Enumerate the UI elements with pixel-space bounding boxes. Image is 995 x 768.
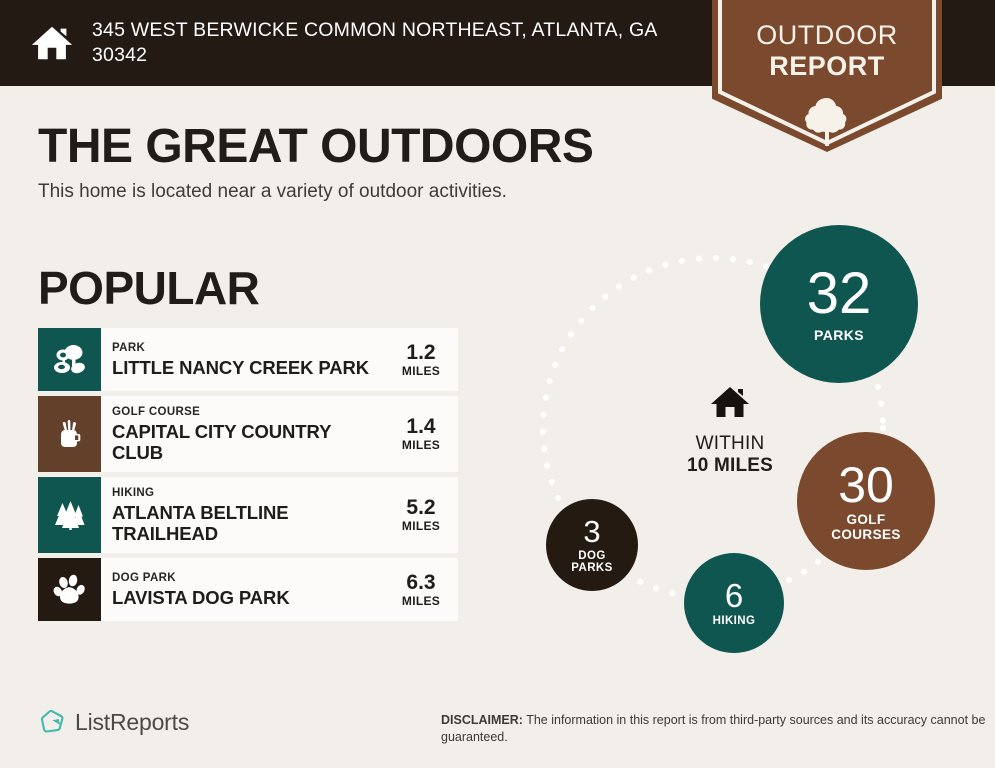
- page-subtitle: This home is located near a variety of o…: [38, 181, 507, 203]
- bubble-golf-value: 30: [838, 460, 894, 510]
- header-address-block: 345 WEST BERWICKE COMMON NORTHEAST, ATLA…: [28, 0, 718, 86]
- list-item-text: DOG PARK LAVISTA DOG PARK: [101, 558, 390, 621]
- bubble-golf-label: GOLF COURSES: [831, 513, 901, 541]
- list-item-category: GOLF COURSE: [112, 405, 386, 419]
- list-item-text: GOLF COURSE CAPITAL CITY COUNTRY CLUB: [101, 396, 390, 472]
- pine-trees-icon: [38, 477, 101, 553]
- distance-unit: MILES: [402, 519, 440, 533]
- golf-bag-icon: [38, 396, 101, 472]
- distance-value: 5.2: [406, 497, 435, 519]
- distance-unit: MILES: [402, 594, 440, 608]
- popular-heading: POPULAR: [38, 261, 259, 315]
- center-line2: 10 MILES: [660, 455, 800, 477]
- list-item-category: HIKING: [112, 486, 386, 500]
- bubble-golf-label-line1: GOLF: [846, 512, 885, 527]
- bubble-golf-courses[interactable]: 30 GOLF COURSES: [797, 432, 935, 570]
- bubble-parks-value: 32: [807, 265, 872, 323]
- home-icon: [28, 19, 76, 67]
- home-icon: [710, 385, 750, 420]
- distance-unit: MILES: [402, 364, 440, 378]
- bubble-dog-label-line2: PARKS: [571, 562, 612, 574]
- tree-icon: [800, 96, 854, 146]
- page-title: THE GREAT OUTDOORS: [38, 119, 593, 174]
- bubble-dog-value: 3: [583, 516, 600, 547]
- list-item-name: ATLANTA BELTLINE TRAILHEAD: [112, 502, 386, 544]
- distance-value: 1.4: [406, 416, 435, 438]
- diagram-center-label: WITHIN 10 MILES: [660, 385, 800, 477]
- list-item-category: PARK: [112, 341, 386, 355]
- distance-value: 6.3: [406, 572, 435, 594]
- list-item-name: CAPITAL CITY COUNTRY CLUB: [112, 421, 386, 463]
- bubble-hiking[interactable]: 6 HIKING: [684, 553, 784, 653]
- bubble-parks[interactable]: 32 PARKS: [760, 225, 918, 383]
- disclaimer-text: The information in this report is from t…: [441, 713, 985, 744]
- bubble-parks-label: PARKS: [814, 328, 864, 343]
- center-line1: WITHIN: [660, 433, 800, 455]
- property-address: 345 WEST BERWICKE COMMON NORTHEAST, ATLA…: [92, 18, 712, 68]
- badge-title-line2: REPORT: [712, 51, 942, 82]
- listreports-logo-icon: [38, 708, 66, 736]
- list-item[interactable]: PARK LITTLE NANCY CREEK PARK 1.2 MILES: [38, 328, 458, 391]
- within-10-miles-diagram: 32 PARKS 30 GOLF COURSES 3 DOG PARKS 6 H…: [520, 225, 990, 665]
- bubble-dog-label: DOG PARKS: [571, 550, 612, 574]
- badge-title-line1: OUTDOOR: [712, 20, 942, 51]
- list-item-distance: 5.2 MILES: [390, 477, 458, 553]
- list-item[interactable]: HIKING ATLANTA BELTLINE TRAILHEAD 5.2 MI…: [38, 477, 458, 553]
- list-item-distance: 1.4 MILES: [390, 396, 458, 472]
- list-item-name: LAVISTA DOG PARK: [112, 587, 386, 608]
- park-trees-icon: [38, 328, 101, 391]
- distance-unit: MILES: [402, 438, 440, 452]
- list-item-name: LITTLE NANCY CREEK PARK: [112, 357, 386, 378]
- badge-title: OUTDOOR REPORT: [712, 20, 942, 82]
- bubble-dog-label-line1: DOG: [578, 550, 605, 562]
- list-item[interactable]: GOLF COURSE CAPITAL CITY COUNTRY CLUB 1.…: [38, 396, 458, 472]
- disclaimer: DISCLAIMER: The information in this repo…: [441, 712, 987, 746]
- bubble-hiking-value: 6: [725, 579, 743, 612]
- list-item-distance: 6.3 MILES: [390, 558, 458, 621]
- list-item-text: HIKING ATLANTA BELTLINE TRAILHEAD: [101, 477, 390, 553]
- popular-list: PARK LITTLE NANCY CREEK PARK 1.2 MILES G…: [38, 328, 458, 626]
- listreports-logo[interactable]: ListReports: [38, 708, 189, 736]
- paw-print-icon: [38, 558, 101, 621]
- list-item-category: DOG PARK: [112, 571, 386, 585]
- bubble-golf-label-line2: COURSES: [831, 527, 901, 542]
- list-item-distance: 1.2 MILES: [390, 328, 458, 391]
- listreports-logo-text: ListReports: [75, 709, 189, 736]
- bubble-dog-parks[interactable]: 3 DOG PARKS: [546, 499, 638, 591]
- distance-value: 1.2: [406, 342, 435, 364]
- bubble-hiking-label: HIKING: [713, 615, 756, 627]
- list-item[interactable]: DOG PARK LAVISTA DOG PARK 6.3 MILES: [38, 558, 458, 621]
- disclaimer-label: DISCLAIMER:: [441, 713, 523, 727]
- list-item-text: PARK LITTLE NANCY CREEK PARK: [101, 328, 390, 391]
